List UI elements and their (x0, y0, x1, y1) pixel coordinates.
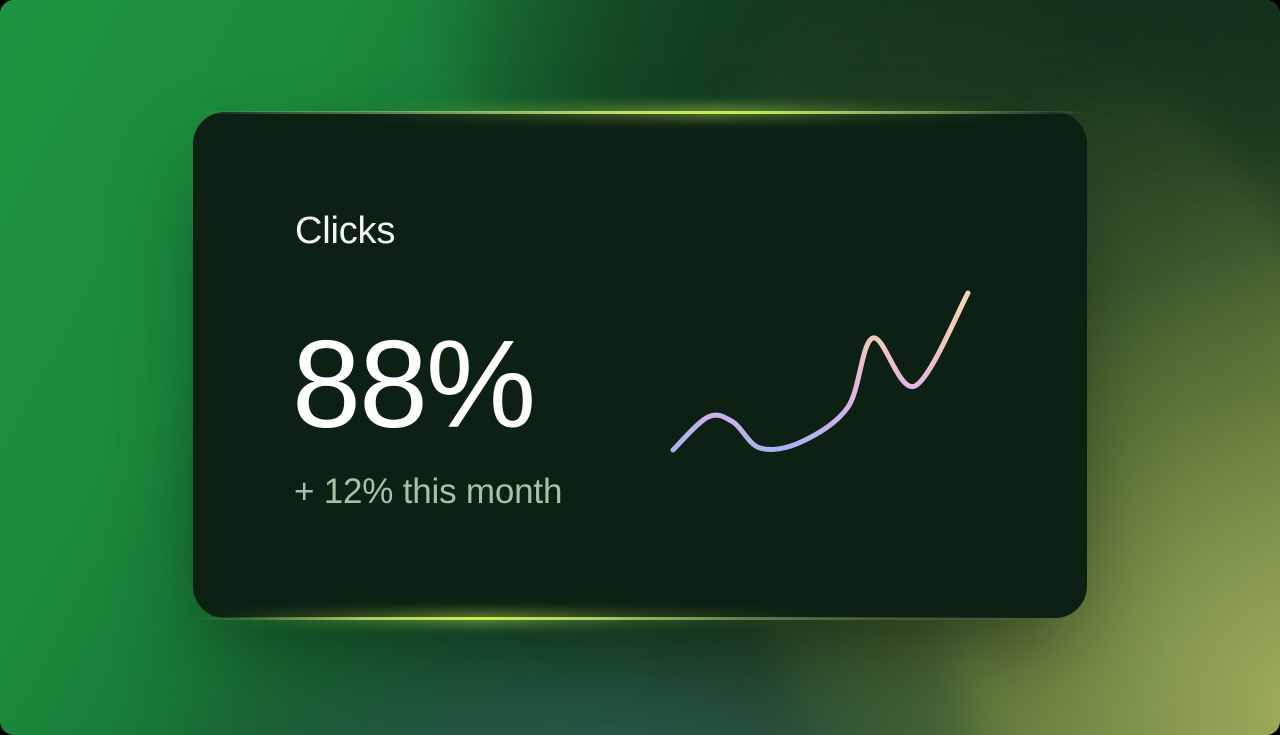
metric-delta-label: + 12% this month (294, 474, 562, 509)
clicks-stat-card[interactable]: Clicks 88% + 12% this month (193, 112, 1087, 618)
metric-value: 88% (292, 323, 534, 447)
sparkline-svg (673, 282, 993, 482)
sparkline-path (673, 293, 968, 450)
screenshot-canvas: Clicks 88% + 12% this month (0, 0, 1280, 735)
card-body: Clicks 88% + 12% this month (193, 112, 1087, 618)
sparkline-chart (673, 282, 993, 482)
metric-title: Clicks (295, 212, 395, 250)
